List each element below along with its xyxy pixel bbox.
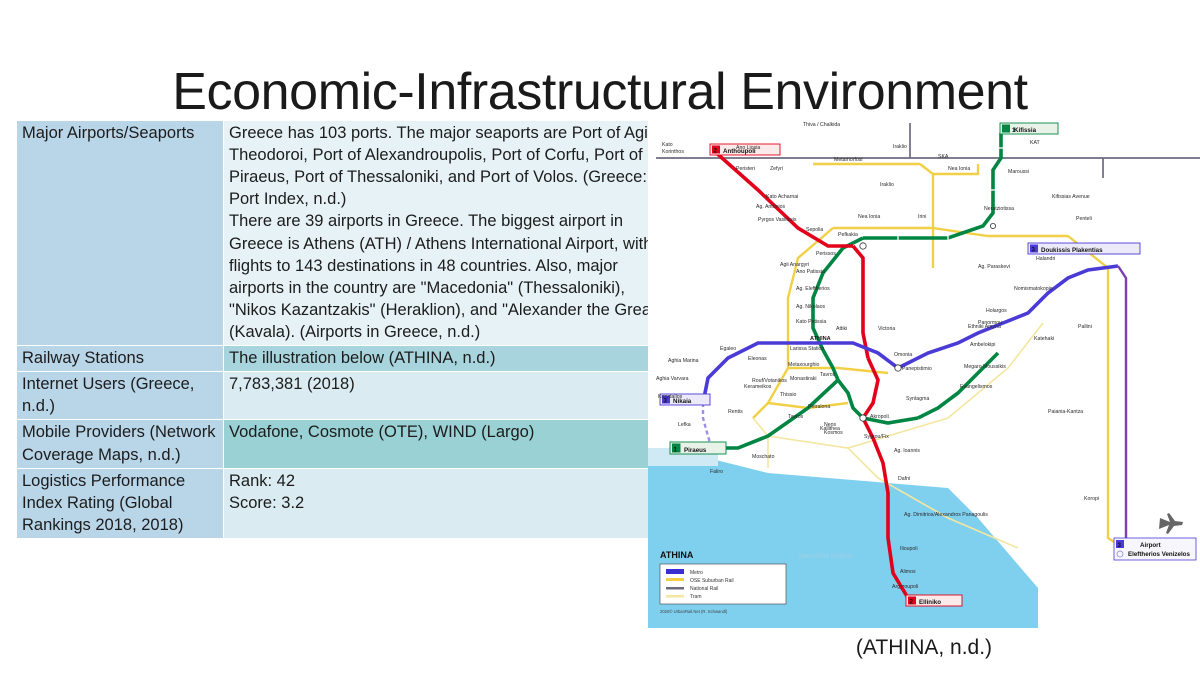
terminal-elliniko: 2 Elliniko bbox=[906, 595, 962, 606]
stn-irini: Irini bbox=[918, 214, 926, 220]
stn-peristeri: Peristeri bbox=[736, 166, 755, 172]
legend-credit: 2020© UrbanRail.Net (R. Schwandl) bbox=[660, 609, 728, 614]
stn-argyroupoli: Argyroupoli bbox=[892, 584, 918, 590]
stn-kifissias-avenue: Kifissias Avenue bbox=[1052, 194, 1090, 200]
stn-sygrou-fix: Sygrou/Fix bbox=[864, 434, 889, 440]
stn-monastiraki: Monastiraki bbox=[790, 376, 817, 382]
svg-text:3: 3 bbox=[1118, 542, 1122, 549]
stn-metaxourghio: Metaxourghio bbox=[788, 362, 820, 368]
table-row: Internet Users (Greece, n.d.) 7,783,381 … bbox=[17, 372, 669, 420]
airport-label-top: Airport bbox=[1140, 542, 1161, 549]
stn-korydallos: Korydallos bbox=[658, 394, 683, 400]
legend-label-tram: Tram bbox=[690, 594, 701, 600]
sea-label: Saronikos Kolpos bbox=[798, 553, 853, 560]
stn-ano-liosia: Ano Liosia bbox=[736, 145, 760, 151]
row-label-railway-stations: Railway Stations bbox=[17, 346, 224, 372]
stn-attiki: Attiki bbox=[836, 326, 847, 332]
svg-text:Piraeus: Piraeus bbox=[684, 447, 707, 454]
svg-text:Doukissis Plakentias: Doukissis Plakentias bbox=[1041, 247, 1103, 254]
legend-label-national: National Rail bbox=[690, 586, 718, 592]
stn-ag-eleftherios: Ag. Eleftherios bbox=[796, 286, 830, 292]
stn-nomismatokopio: Nomismatokopio bbox=[1014, 286, 1053, 292]
stn-alimos: Alimos bbox=[900, 569, 916, 575]
stn-akropoli: Akropoli bbox=[870, 414, 889, 420]
stn-larissa-station: Larissa Station bbox=[790, 346, 824, 352]
stn-holargos: Holargos bbox=[986, 308, 1007, 314]
stn-ethniki-amyna: Ethniki Amyna bbox=[968, 324, 1001, 330]
stn-eleonas: Eleonas bbox=[748, 356, 767, 362]
stn-syntagma: Syntagma bbox=[906, 396, 929, 402]
terminal-piraeus: 1 Piraeus bbox=[670, 442, 726, 454]
stn-maroussi: Maroussi bbox=[1008, 169, 1029, 175]
stn-evangelismos: Evangelismos bbox=[960, 384, 993, 390]
row-value-internet-users: 7,783,381 (2018) bbox=[224, 372, 669, 420]
stn-kato-korinthos: Kato bbox=[662, 142, 673, 148]
table-row: Major Airports/Seaports Greece has 103 p… bbox=[17, 121, 669, 346]
stn-ambelokipi: Ambelokipi bbox=[970, 342, 995, 348]
stn-athina-label: ATHINA bbox=[810, 336, 831, 342]
legend-label-ose: OSE Suburban Rail bbox=[690, 578, 734, 584]
svg-text:Elliniko: Elliniko bbox=[919, 599, 941, 606]
stn-panepistimio: Panepistimio bbox=[902, 366, 932, 372]
stn-ilioupoli: Ilioupoli bbox=[900, 546, 918, 552]
stn-iraklio: Iraklio bbox=[880, 182, 894, 188]
stn-dafni: Dafni bbox=[898, 476, 910, 482]
athens-metro-map: Saronikos Kolpos bbox=[648, 118, 1200, 628]
row-value-logistics-index: Rank: 42 Score: 3.2 bbox=[224, 468, 669, 538]
stn-ag-paraskevi: Ag. Paraskevi bbox=[978, 264, 1010, 270]
stn-lefka: Lefka bbox=[678, 422, 691, 428]
table-row: Logistics Performance Index Rating (Glob… bbox=[17, 468, 669, 538]
stn-paiania-kantza: Paiania-Kantza bbox=[1048, 409, 1083, 415]
map-caption: (ATHINA, n.d.) bbox=[648, 636, 1200, 660]
stn-ag-antonios: Ag. Antonios bbox=[756, 204, 786, 210]
stn-kato-korinthos-2: Korinthos bbox=[662, 149, 684, 155]
stn-thiva-chalkida: Thiva / Chalkida bbox=[803, 122, 840, 128]
stn-koropi: Koropi bbox=[1084, 496, 1099, 502]
svg-text:3: 3 bbox=[1032, 247, 1036, 254]
stn-petralona: Petralona bbox=[808, 404, 830, 410]
stn-megaro-moussikis: Megaro Moussikis bbox=[964, 364, 1006, 370]
stn-aghia-marina: Aghia Marina bbox=[668, 358, 699, 364]
stn-pyrgos-vasilissis: Pyrgos Vasilissis bbox=[758, 217, 797, 223]
stn-tavros-up: Tavros bbox=[820, 372, 836, 378]
stn-pefkakia: Pefkakia bbox=[838, 232, 858, 238]
terminal-doukissis-plakentias: 3 Doukissis Plakentias bbox=[1028, 243, 1140, 254]
stn-moschato: Moschato bbox=[752, 454, 775, 460]
stn-ag-ioannis: Ag. Ioannis bbox=[894, 448, 920, 454]
table-row: Railway Stations The illustration below … bbox=[17, 346, 669, 372]
stn-ag-nikolaos: Ag. Nikolaos bbox=[796, 304, 826, 310]
terminal-kifissia: 1 Kifissia bbox=[1000, 123, 1058, 134]
stn-victoria: Victoria bbox=[878, 326, 895, 332]
stn-neratziotissa: Neratziotissa bbox=[984, 206, 1014, 212]
airport-label-bottom: Eleftherios Venizelos bbox=[1128, 551, 1190, 558]
svg-text:1: 1 bbox=[674, 447, 678, 454]
infrastructure-table: Major Airports/Seaports Greece has 103 p… bbox=[16, 120, 669, 539]
slide-root: Economic-Infrastructural Environment Maj… bbox=[0, 0, 1200, 675]
stn-kallithea: Kallithea bbox=[820, 426, 840, 432]
row-label-logistics-index: Logistics Performance Index Rating (Glob… bbox=[17, 468, 224, 538]
stn-kat: KAT bbox=[1030, 140, 1041, 146]
stn-tavros: Tavros bbox=[788, 414, 804, 420]
svg-text:ATHINA: ATHINA bbox=[660, 550, 694, 560]
stn-ska: SKA bbox=[938, 154, 949, 160]
stn-nea-ionia-top: Nea Ionia bbox=[948, 166, 970, 172]
svg-text:Kifissia: Kifissia bbox=[1014, 127, 1037, 134]
stn-kato-patissia: Kato Patissia bbox=[796, 319, 826, 325]
stn-kato-acharnai: Kato Acharnai bbox=[766, 194, 798, 200]
table-row: Mobile Providers (Network Coverage Maps,… bbox=[17, 420, 669, 468]
svg-text:2: 2 bbox=[714, 148, 718, 155]
row-value-railway-stations: The illustration below (ATHINA, n.d.) bbox=[224, 346, 669, 372]
stn-sepolia: Sepolia bbox=[806, 227, 823, 233]
stn-perissos: Perissos bbox=[816, 251, 836, 257]
row-value-airports-seaports: Greece has 103 ports. The major seaports… bbox=[224, 121, 669, 346]
stn-nea-ionia: Nea Ionia bbox=[858, 214, 880, 220]
stn-ag-dimitrios: Ag. Dimitrios/Alexandros Panagoulis bbox=[904, 512, 988, 518]
stn-rouf-votanikos: Rouf/Votanikos bbox=[752, 378, 787, 384]
stn-kerameikos: Kerameikos bbox=[744, 384, 772, 390]
stn-pallini: Pallini bbox=[1078, 324, 1092, 330]
stn-halandri: Halandri bbox=[1036, 256, 1055, 262]
row-label-airports-seaports: Major Airports/Seaports bbox=[17, 121, 224, 346]
stn-iraklio-n: Iraklio bbox=[893, 144, 907, 150]
stn-zefyri: Zefyri bbox=[770, 166, 783, 172]
stn-ano-patissia: Ano Patissia bbox=[796, 269, 825, 275]
stn-katehaki: Katehaki bbox=[1034, 336, 1054, 342]
stn-thissio: Thissio bbox=[780, 392, 797, 398]
stn-metamorfosi: Metamorfosi bbox=[834, 157, 863, 163]
stn-penteli: Penteli bbox=[1076, 216, 1092, 222]
stn-agia-varvara: Aghia Varvara bbox=[656, 376, 689, 382]
stn-rentis: Rentis bbox=[728, 409, 743, 415]
page-title: Economic-Infrastructural Environment bbox=[0, 62, 1200, 122]
legend-label-metro: Metro bbox=[690, 570, 703, 576]
row-label-mobile-providers: Mobile Providers (Network Coverage Maps,… bbox=[17, 420, 224, 468]
row-label-internet-users: Internet Users (Greece, n.d.) bbox=[17, 372, 224, 420]
stn-egaleo: Egaleo bbox=[720, 346, 736, 352]
stn-omonia: Omonia bbox=[894, 352, 912, 358]
stn-agii-anargyri: Agii Anargyri bbox=[780, 262, 809, 268]
svg-text:2: 2 bbox=[910, 599, 914, 606]
stn-faliro: Faliro bbox=[710, 469, 723, 475]
row-value-mobile-providers: Vodafone, Cosmote (OTE), WIND (Largo) bbox=[224, 420, 669, 468]
